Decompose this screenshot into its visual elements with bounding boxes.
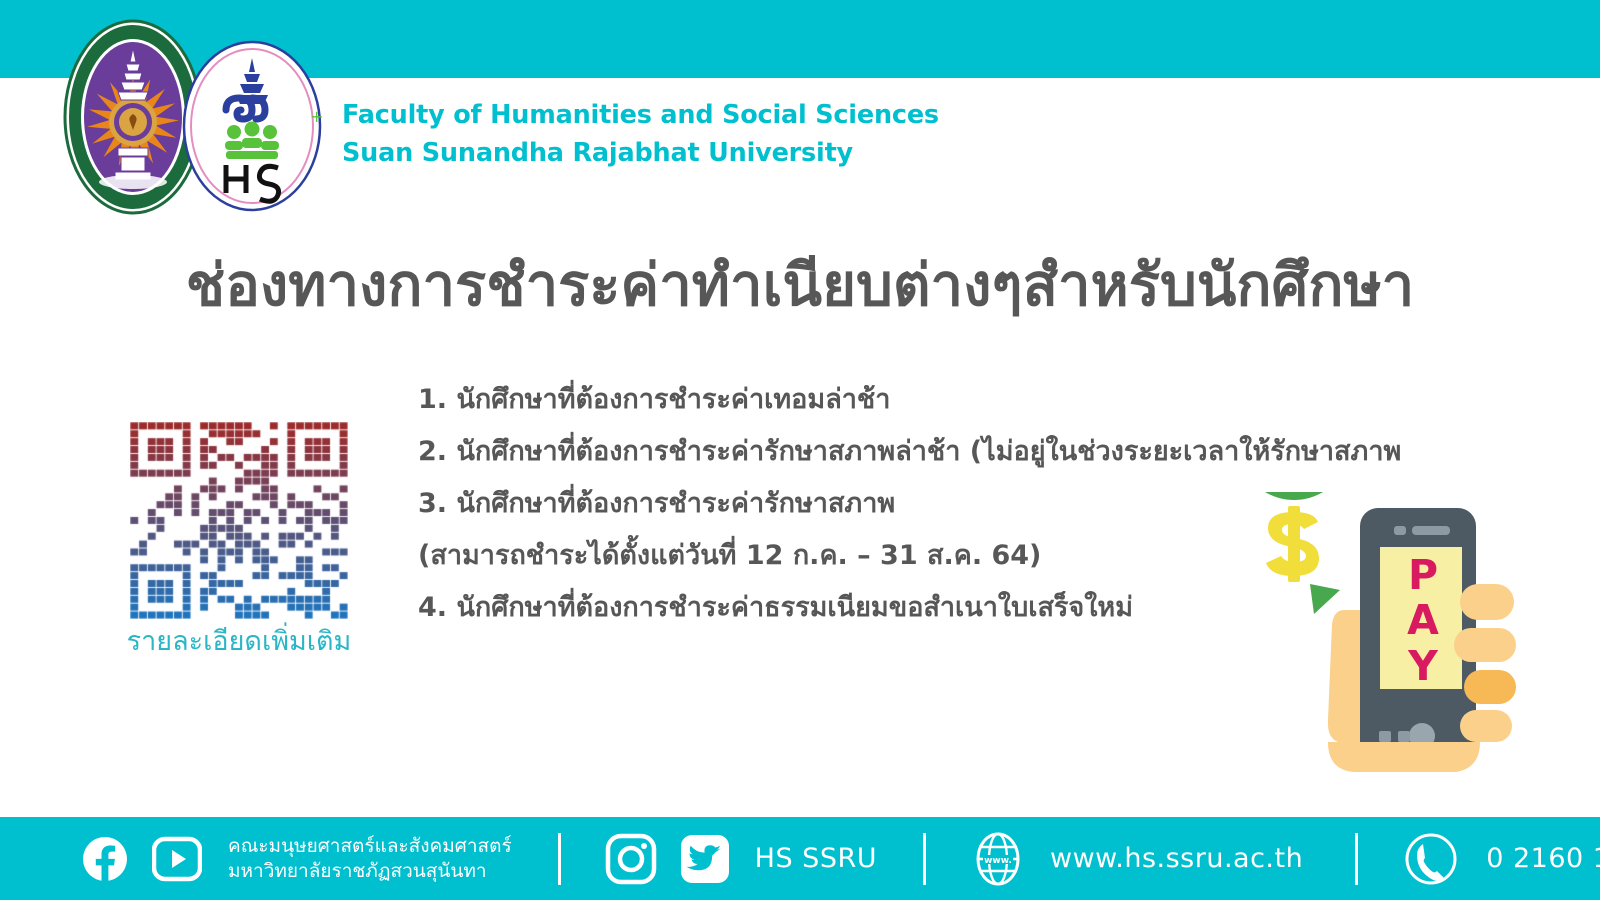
footer-phone: 0 2160 1282 – 86	[1486, 843, 1600, 875]
qr-caption: รายละเอียดเพิ่มเติม	[124, 625, 354, 659]
youtube-icon[interactable]	[152, 836, 202, 882]
footer-divider	[923, 833, 926, 885]
footer-divider	[1355, 833, 1358, 885]
qr-block: รายละเอียดเพิ่มเติม	[124, 422, 354, 659]
header-title: Faculty of Humanities and Social Science…	[342, 96, 939, 172]
twitter-icon[interactable]	[679, 833, 731, 885]
footer-faculty-line2: มหาวิทยาลัยราชภัฏสวนสุนันทา	[228, 859, 512, 884]
footer-faculty-line1: คณะมนุษยศาสตร์และสังคมศาสตร์	[228, 834, 512, 859]
footer-group-website: www. www.hs.ssru.ac.th	[974, 817, 1303, 900]
header-title-line2: Suan Sunandha Rajabhat University	[342, 134, 939, 172]
logo-group: +	[62, 18, 332, 218]
footer-social-handle: HS SSRU	[755, 843, 877, 875]
footer-group-social-primary: คณะมนุษยศาสตร์และสังคมศาสตร์ มหาวิทยาลัย…	[82, 817, 512, 900]
footer-group-social-secondary: HS SSRU	[605, 817, 877, 900]
hs-faculty-logo: +	[182, 40, 322, 212]
footer-faculty-name: คณะมนุษยศาสตร์และสังคมศาสตร์ มหาวิทยาลัย…	[228, 834, 512, 884]
header-title-line1: Faculty of Humanities and Social Science…	[342, 96, 939, 134]
globe-www-icon[interactable]: www.	[974, 831, 1022, 887]
page-footer: คณะมนุษยศาสตร์และสังคมศาสตร์ มหาวิทยาลัย…	[0, 817, 1600, 900]
footer-website[interactable]: www.hs.ssru.ac.th	[1050, 843, 1303, 875]
footer-divider	[558, 833, 561, 885]
dollar-sign-speech-bubble-icon	[1242, 492, 1346, 614]
qr-code-icon[interactable]	[130, 422, 348, 619]
phone-screen-pay-letter: P	[1408, 551, 1438, 599]
instagram-icon[interactable]	[605, 833, 657, 885]
svg-text:+: +	[310, 107, 322, 126]
list-item: 1. นักศึกษาที่ต้องการชำระค่าเทอมล่าช้า	[418, 374, 1488, 426]
page-header: + Faculty of Humanities and Social Scien…	[0, 0, 1600, 225]
list-item: 2. นักศึกษาที่ต้องการชำระค่ารักษาสภาพล่า…	[418, 426, 1488, 478]
facebook-icon[interactable]	[82, 836, 128, 882]
page-title: ช่องทางการชำระค่าทำเนียบต่างๆสำหรับนักศึ…	[0, 248, 1600, 322]
phone-icon[interactable]	[1404, 832, 1458, 886]
hand-holding-phone-pay-icon: P A Y	[1232, 492, 1532, 782]
phone-screen-pay-letter: Y	[1407, 642, 1439, 690]
phone-screen-pay-letter: A	[1407, 596, 1439, 644]
footer-group-phone: 0 2160 1282 – 86	[1404, 817, 1600, 900]
svg-text:www.: www.	[984, 856, 1012, 866]
